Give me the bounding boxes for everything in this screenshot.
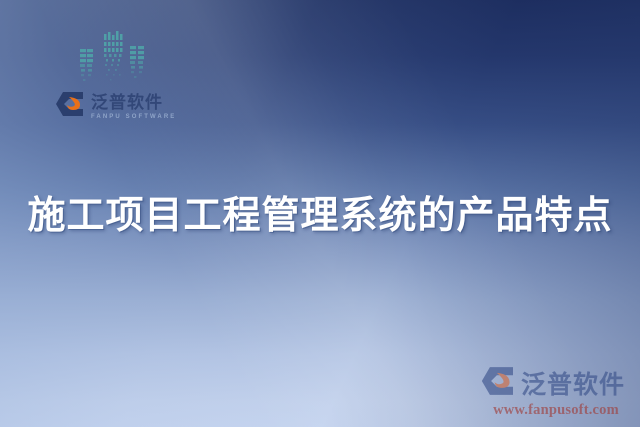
fanpu-logo-icon xyxy=(55,91,85,122)
presentation-slide: 泛普软件 FANPU SOFTWARE 施工项目工程管理系统的产品特点 泛普软件… xyxy=(0,0,640,427)
watermark-url: www.fanpusoft.com xyxy=(480,402,632,419)
watermark-logo: 泛普软件 www.fanpusoft.com xyxy=(480,365,632,419)
pixel-city-skyline-icon xyxy=(78,27,148,87)
watermark-brand-row: 泛普软件 xyxy=(480,365,632,401)
watermark-brand-name: 泛普软件 xyxy=(521,365,625,401)
brand-name-cn: 泛普软件 xyxy=(91,94,176,111)
brand-logo-top: 泛普软件 FANPU SOFTWARE xyxy=(55,91,176,122)
brand-name-en: FANPU SOFTWARE xyxy=(91,114,176,120)
watermark-fanpu-logo-icon xyxy=(480,366,516,401)
slide-title: 施工项目工程管理系统的产品特点 xyxy=(0,184,640,239)
brand-text-block: 泛普软件 FANPU SOFTWARE xyxy=(91,94,176,120)
